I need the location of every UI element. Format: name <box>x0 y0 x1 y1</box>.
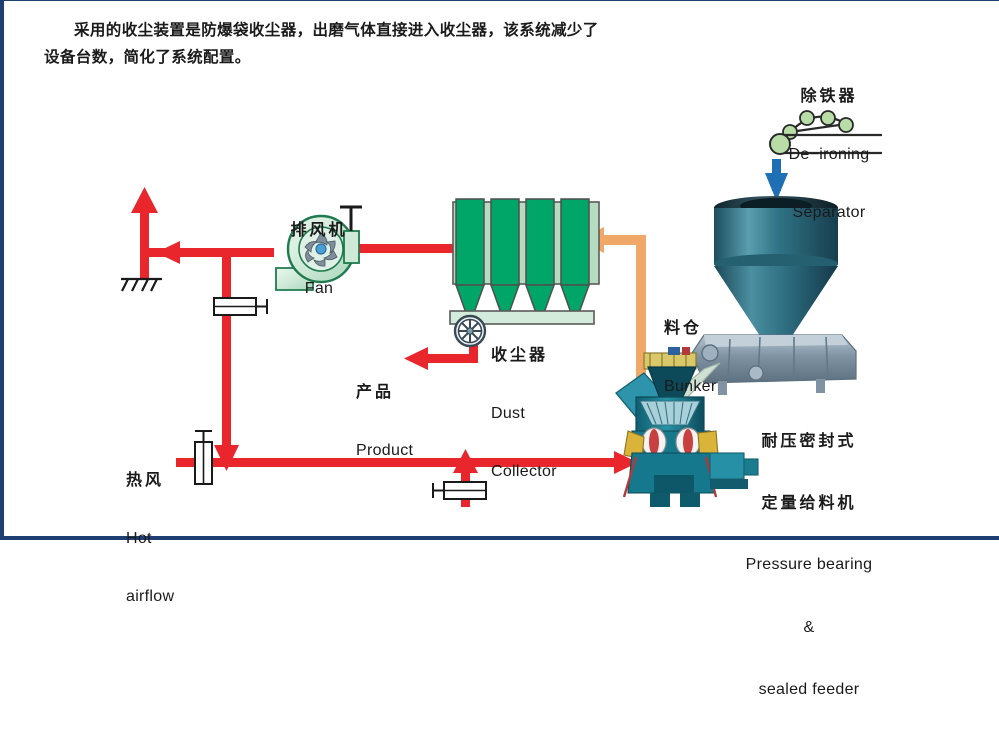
label-sealed-feeder: 耐压密封式 定量给料机 Pressure bearing & sealed fe… <box>718 389 900 743</box>
label-bunker-en: Bunker <box>664 377 748 397</box>
hot-airflow-pipe <box>176 458 626 467</box>
fan-outlet-pipe <box>353 244 458 253</box>
mill-drive-motor <box>710 453 758 489</box>
pressure-sealed-feeder[interactable] <box>666 335 856 405</box>
magnet-arch <box>790 117 846 132</box>
grinding-rollers <box>642 428 700 456</box>
label-fan-cn: 排风机 <box>276 220 362 240</box>
mill-gas-riser <box>636 235 646 395</box>
label-product-cn: 产品 <box>356 382 444 402</box>
rotary-airlock-valve[interactable] <box>470 324 471 325</box>
stack-pipe <box>140 201 149 279</box>
headline-line-1: 采用的收尘装置是防爆袋收尘器，出磨气体直接进入收尘器，该系统减少了 <box>44 17 644 44</box>
label-feeder-cn1: 耐压密封式 <box>718 431 900 452</box>
recirculation-pipe <box>222 252 231 462</box>
label-bunker-cn: 料仓 <box>664 318 748 338</box>
fan-impeller <box>305 233 337 266</box>
filter-hoppers <box>456 285 589 313</box>
feeder-ribs <box>728 337 828 381</box>
bunker-silo[interactable] <box>714 196 838 352</box>
label-hot-en1: Hot <box>126 529 206 549</box>
head-pulley <box>770 134 790 154</box>
mill-grinding-table <box>640 401 700 425</box>
mill-separator <box>648 367 696 399</box>
label-feeder-en2: & <box>718 618 900 639</box>
label-dust-en1: Dust <box>491 404 601 424</box>
riser-pipe <box>461 462 470 507</box>
label-dust-collector: 收尘器 Dust Collector <box>491 306 601 521</box>
exhaust-fan[interactable] <box>276 207 362 290</box>
product-pipe <box>420 354 478 363</box>
mill-gas-to-collector <box>598 235 646 245</box>
slide-canvas: 采用的收尘装置是防爆袋收尘器，出磨气体直接进入收尘器，该系统减少了 设备台数，简… <box>0 0 999 540</box>
feed-arrow <box>765 159 788 201</box>
magnet-pulleys <box>783 111 853 139</box>
damper-valve-riser[interactable] <box>433 482 486 499</box>
feeder-drive-port <box>702 345 718 361</box>
label-hot-en2: airflow <box>126 587 206 607</box>
label-de-ironing-cn: 除铁器 <box>764 86 894 106</box>
label-product: 产品 Product <box>356 343 444 499</box>
label-fan-en: Fan <box>276 279 362 299</box>
mill-body <box>636 397 704 439</box>
fan-to-stack-pipe <box>149 248 274 257</box>
mill-base <box>628 453 714 493</box>
headline-line-2: 设备台数，简化了系统配置。 <box>44 48 251 66</box>
feeder-chute <box>666 363 720 405</box>
label-fan: 排风机 Fan <box>276 181 362 337</box>
filter-compartments <box>456 199 589 285</box>
stack-ground-symbol <box>121 279 162 291</box>
label-hot-cn: 热风 <box>126 470 206 490</box>
mill-platform <box>644 353 696 369</box>
dust-collector-unit[interactable] <box>450 199 599 339</box>
de-ironing-separator[interactable] <box>770 111 882 154</box>
label-feeder-en1: Pressure bearing <box>718 555 900 576</box>
label-dust-cn: 收尘器 <box>491 345 601 365</box>
label-de-ironing-separator: 除铁器 De−ironing Separator <box>764 47 894 262</box>
label-de-ironing-en2: Separator <box>764 203 894 223</box>
label-feeder-en3: sealed feeder <box>718 680 900 701</box>
hydraulic-arms <box>624 431 718 459</box>
label-de-ironing-en1: De−ironing <box>764 145 894 165</box>
page-title: 采用的收尘装置是防爆袋收尘器，出磨气体直接进入收尘器，该系统减少了 设备台数，简… <box>44 17 644 71</box>
label-bunker: 料仓 Bunker <box>664 279 748 435</box>
label-feeder-cn2: 定量给料机 <box>718 493 900 514</box>
mill-tie-rods <box>624 457 716 497</box>
screw-conveyor <box>450 311 594 324</box>
